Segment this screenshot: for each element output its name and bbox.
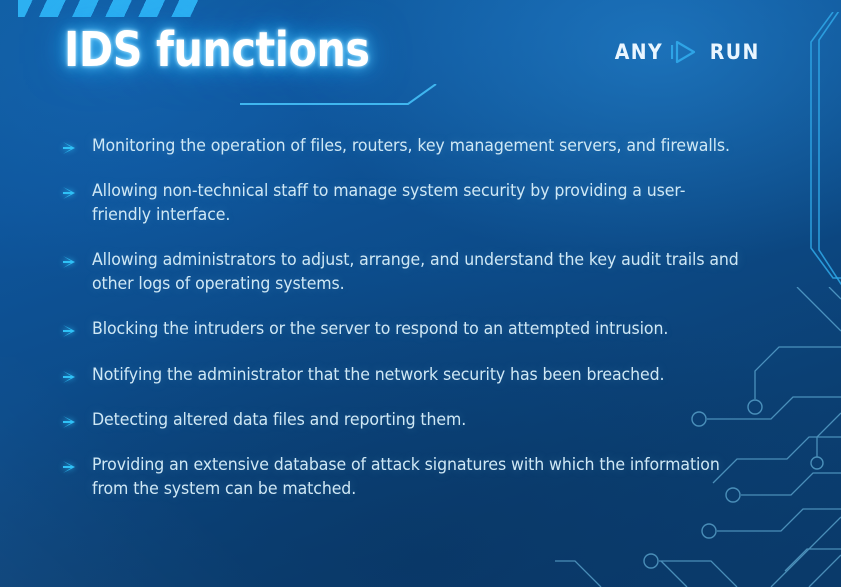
chevron-arrow-bullet-icon xyxy=(62,415,76,429)
play-triangle-icon xyxy=(671,38,701,66)
list-item-text: Allowing non-technical staff to manage s… xyxy=(92,179,741,226)
list-item: Blocking the intruders or the server to … xyxy=(62,317,772,340)
list-item-text: Blocking the intruders or the server to … xyxy=(92,317,668,340)
chevron-arrow-bullet-icon xyxy=(62,255,76,269)
slide-header: IDS functions ANY RUN xyxy=(0,0,841,110)
list-item: Providing an extensive database of attac… xyxy=(62,453,772,500)
chevron-arrow-bullet-icon xyxy=(62,370,76,384)
chevron-arrow-bullet-icon xyxy=(62,324,76,338)
brand-word-any: ANY xyxy=(614,42,662,63)
chevron-arrow-bullet-icon xyxy=(62,141,76,155)
list-item-text: Notifying the administrator that the net… xyxy=(92,363,664,386)
page-title: IDS functions xyxy=(64,22,370,78)
list-item: Allowing administrators to adjust, arran… xyxy=(62,248,772,295)
brand-logo[interactable]: ANY RUN xyxy=(612,38,763,66)
list-item: Notifying the administrator that the net… xyxy=(62,363,772,386)
list-item: Allowing non-technical staff to manage s… xyxy=(62,179,772,226)
list-item-text: Providing an extensive database of attac… xyxy=(92,453,741,500)
list-item: Monitoring the operation of files, route… xyxy=(62,134,772,157)
chevron-arrow-bullet-icon xyxy=(62,186,76,200)
list-item-text: Allowing administrators to adjust, arran… xyxy=(92,248,741,295)
list-item-text: Monitoring the operation of files, route… xyxy=(92,134,730,157)
brand-word-run: RUN xyxy=(710,42,760,63)
list-item-text: Detecting altered data files and reporti… xyxy=(92,408,466,431)
slide-root: IDS functions ANY RUN Monitoring the ope… xyxy=(0,0,841,587)
chevron-arrow-bullet-icon xyxy=(62,460,76,474)
angled-bracket-left-icon xyxy=(0,336,32,536)
list-item: Detecting altered data files and reporti… xyxy=(62,408,772,431)
bullet-list: Monitoring the operation of files, route… xyxy=(62,134,772,500)
angled-underline-accent-icon xyxy=(240,84,446,110)
